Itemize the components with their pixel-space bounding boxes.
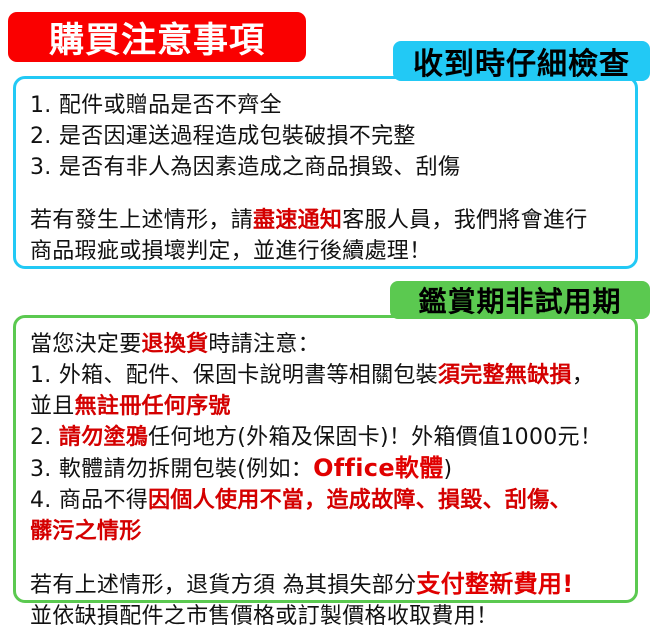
- return-policy-panel-body: 當您決定要退換貨時請注意： 1. 外箱、配件、保固卡說明書等相關包裝須完整無缺損…: [16, 318, 635, 632]
- return-item-1-line-1: 1. 外箱、配件、保固卡說明書等相關包裝須完整無缺損，: [30, 360, 621, 391]
- return-closing-line-2: 並依缺損配件之市售價格或訂製價格收取費用！: [30, 601, 621, 632]
- return-item-1-line-2: 並且無註冊任何序號: [30, 391, 621, 422]
- return-item-2-emphasis: 請勿塗鴉: [59, 425, 148, 450]
- badge-inspect-on-receipt: 收到時仔細檢查: [393, 41, 650, 81]
- badge-purchase-notice: 購買注意事項: [8, 12, 306, 62]
- return-item-1-emphasis-1: 須完整無缺損: [438, 363, 572, 388]
- return-item-4-line-1: 4. 商品不得因個人使用不當，造成故障、損毀、刮傷、: [30, 485, 621, 516]
- inspection-closing-line-2: 商品瑕疵或損壞判定，並進行後續處理！: [30, 236, 621, 267]
- return-item-3-text-a: 3. 軟體請勿拆開包裝(例如：: [30, 457, 313, 482]
- inspection-item-2: 2. 是否因運送過程造成包裝破損不完整: [30, 121, 621, 152]
- inspection-closing-text-a: 若有發生上述情形，請: [30, 208, 253, 233]
- return-item-4-text-a: 4. 商品不得: [30, 488, 148, 513]
- inspection-item-3: 3. 是否有非人為因素造成之商品損毀、刮傷: [30, 152, 621, 183]
- badge-trial-period-notice-label: 鑑賞期非試用期: [418, 280, 621, 320]
- inspection-closing-emphasis: 盡速通知: [253, 208, 342, 233]
- return-item-2-text: 任何地方(外箱及保固卡)！外箱價值1000元！: [148, 425, 602, 450]
- badge-purchase-notice-label: 購買注意事項: [49, 12, 265, 63]
- notice-page: 購買注意事項 收到時仔細檢查 1. 配件或贈品是否不齊全 2. 是否因運送過程造…: [0, 0, 650, 622]
- inspection-panel: 1. 配件或贈品是否不齊全 2. 是否因運送過程造成包裝破損不完整 3. 是否有…: [13, 76, 638, 269]
- return-closing-emphasis: 支付整新費用!: [416, 570, 573, 598]
- return-item-1-text-a: 1. 外箱、配件、保固卡說明書等相關包裝: [30, 363, 438, 388]
- return-intro-emphasis: 退換貨: [142, 332, 209, 357]
- inspection-panel-body: 1. 配件或贈品是否不齊全 2. 是否因運送過程造成包裝破損不完整 3. 是否有…: [16, 79, 635, 267]
- return-item-4-emphasis: 因個人使用不當，造成故障、損毀、刮傷、: [148, 488, 572, 513]
- return-item-2-number: 2.: [30, 425, 59, 450]
- return-item-4-line-2: 髒污之情形: [30, 516, 621, 547]
- inspection-closing-text-b: 客服人員，我們將會進行: [342, 208, 587, 233]
- return-intro-text-b: 時請注意：: [208, 332, 320, 357]
- inspection-closing-line-1: 若有發生上述情形，請盡速通知客服人員，我們將會進行: [30, 205, 621, 236]
- badge-inspect-on-receipt-label: 收到時仔細檢查: [413, 39, 630, 83]
- inspection-spacer: [30, 183, 621, 205]
- return-item-2: 2. 請勿塗鴉任何地方(外箱及保固卡)！外箱價值1000元！: [30, 422, 621, 453]
- return-item-3-text-b: ): [444, 457, 453, 482]
- return-closing-text-a: 若有上述情形，退貨方須 為其損失部分: [30, 573, 416, 598]
- return-item-3: 3. 軟體請勿拆開包裝(例如：Office軟體): [30, 453, 621, 485]
- return-item-1-text-b: ，: [572, 363, 594, 388]
- badge-trial-period-notice: 鑑賞期非試用期: [390, 281, 650, 319]
- return-closing-line-1: 若有上述情形，退貨方須 為其損失部分支付整新費用!: [30, 569, 621, 601]
- inspection-item-1: 1. 配件或贈品是否不齊全: [30, 90, 621, 121]
- return-intro-text-a: 當您決定要: [30, 332, 142, 357]
- return-intro-line: 當您決定要退換貨時請注意：: [30, 329, 621, 360]
- return-item-4-cont-emphasis: 髒污之情形: [30, 519, 142, 544]
- return-spacer: [30, 547, 621, 569]
- return-item-1-cont-emphasis: 無註冊任何序號: [75, 394, 231, 419]
- return-item-3-emphasis: Office軟體: [313, 454, 443, 482]
- return-policy-panel: 當您決定要退換貨時請注意： 1. 外箱、配件、保固卡說明書等相關包裝須完整無缺損…: [13, 315, 638, 603]
- return-item-1-cont-text: 並且: [30, 394, 75, 419]
